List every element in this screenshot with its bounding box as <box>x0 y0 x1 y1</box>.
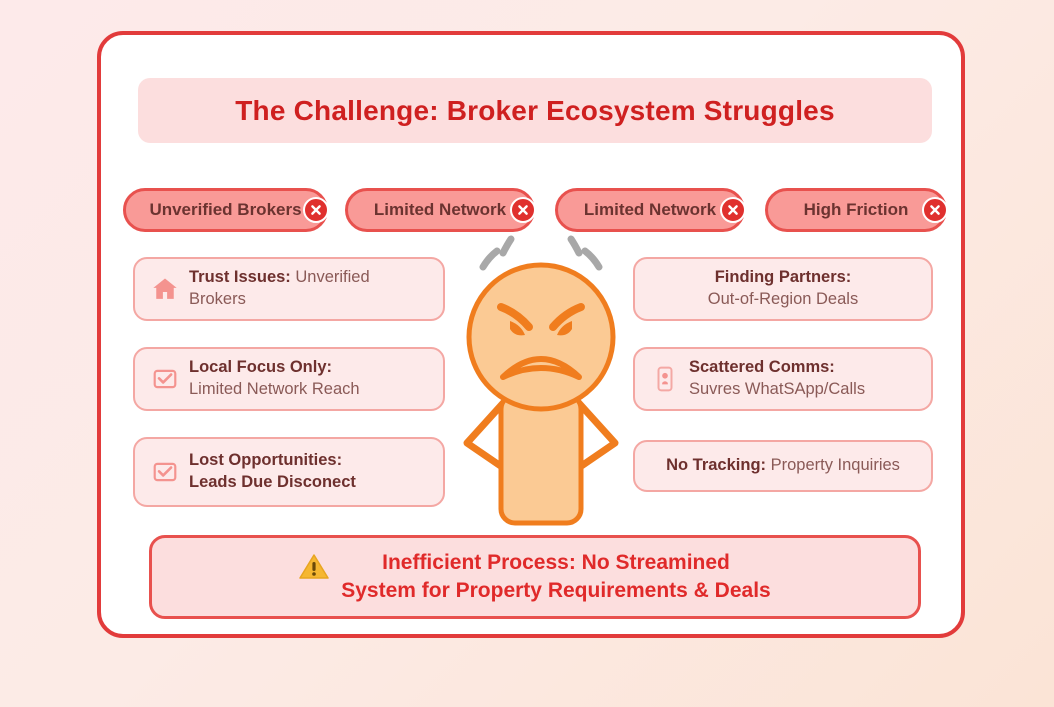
pain-point-rest: Property Inquiries <box>766 456 900 474</box>
pain-point-lead: Local Focus Only: <box>189 358 332 376</box>
issue-pill-high-friction[interactable]: High Friction <box>765 188 947 232</box>
title-banner: The Challenge: Broker Ecosystem Struggle… <box>138 78 932 143</box>
issue-pill-limited-network-1[interactable]: Limited Network <box>345 188 535 232</box>
pain-point-text: No Tracking: Property Inquiries <box>666 455 900 477</box>
pain-point-rest: Out-of-Region Deals <box>708 290 858 308</box>
check-square-icon <box>151 458 179 486</box>
pain-point-rest: Limited Network Reach <box>189 380 360 398</box>
pain-point-lead: Trust Issues: <box>189 268 291 286</box>
pain-point-card-scattered-comms[interactable]: Scattered Comms: Suvres WhatSApp/Calls <box>633 347 933 411</box>
summary-text: Inefficient Process: No Streamined Syste… <box>341 549 770 605</box>
pain-point-card-finding-partners[interactable]: Finding Partners: Out-of-Region Deals <box>633 257 933 321</box>
summary-line-1: Inefficient Process: No Streamined <box>382 551 730 574</box>
summary-banner: Inefficient Process: No Streamined Syste… <box>149 535 921 619</box>
pain-point-rest: Suvres WhatSApp/Calls <box>689 380 865 398</box>
pain-point-lead: Lost Opportunities: <box>189 451 342 469</box>
issue-pill-unverified-brokers[interactable]: Unverified Brokers <box>123 188 328 232</box>
pain-point-text: Lost Opportunities: Leads Due Disconect <box>189 450 356 494</box>
pain-point-card-local-focus[interactable]: Local Focus Only: Limited Network Reach <box>133 347 445 411</box>
angry-character-illustration <box>453 233 629 533</box>
page-title: The Challenge: Broker Ecosystem Struggle… <box>235 95 834 127</box>
pain-point-card-trust-issues[interactable]: Trust Issues: Unverified Brokers <box>133 257 445 321</box>
main-card: The Challenge: Broker Ecosystem Struggle… <box>97 31 965 638</box>
pain-point-card-lost-opportunities[interactable]: Lost Opportunities: Leads Due Disconect <box>133 437 445 507</box>
issue-pill-limited-network-2[interactable]: Limited Network <box>555 188 745 232</box>
close-icon[interactable] <box>922 197 948 223</box>
close-icon[interactable] <box>303 197 329 223</box>
pain-point-lead: Finding Partners: <box>715 268 852 286</box>
pain-point-card-no-tracking[interactable]: No Tracking: Property Inquiries <box>633 440 933 492</box>
warning-triangle-icon <box>299 553 329 581</box>
issue-pill-label: Limited Network <box>584 200 716 220</box>
issue-pill-row: Unverified Brokers Limited Network Limit… <box>119 188 951 238</box>
phone-icon <box>651 365 679 393</box>
pain-point-text: Local Focus Only: Limited Network Reach <box>189 357 360 401</box>
issue-pill-label: High Friction <box>804 200 909 220</box>
summary-line-2: System for Property Requirements & Deals <box>341 579 770 602</box>
pain-point-text: Finding Partners: Out-of-Region Deals <box>708 267 858 311</box>
pain-point-lead: Scattered Comms: <box>689 358 835 376</box>
pain-point-rest: Leads Due Disconect <box>189 473 356 491</box>
issue-pill-label: Unverified Brokers <box>149 200 301 220</box>
check-square-icon <box>151 365 179 393</box>
close-icon[interactable] <box>510 197 536 223</box>
issue-pill-label: Limited Network <box>374 200 506 220</box>
pain-point-text: Scattered Comms: Suvres WhatSApp/Calls <box>689 357 865 401</box>
home-icon <box>151 275 179 303</box>
close-icon[interactable] <box>720 197 746 223</box>
pain-point-lead: No Tracking: <box>666 456 766 474</box>
pain-point-text: Trust Issues: Unverified Brokers <box>189 267 427 311</box>
